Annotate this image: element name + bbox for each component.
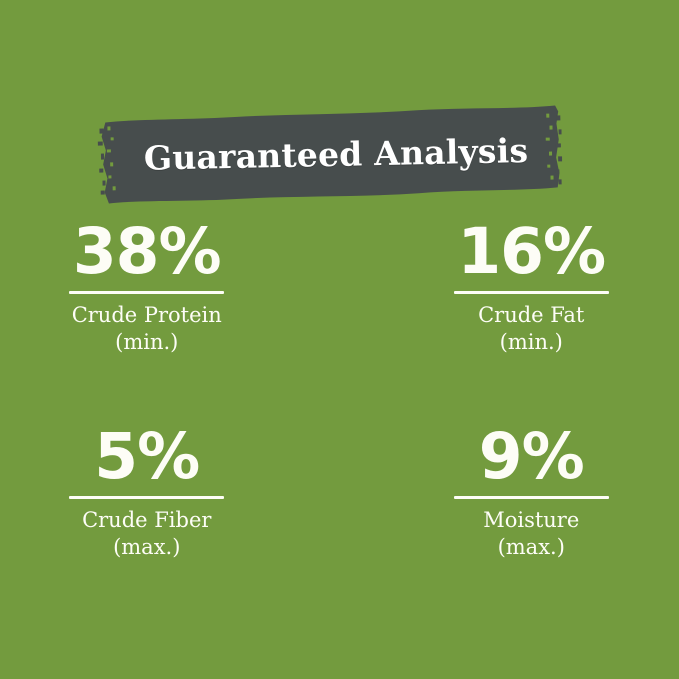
stat-qualifier: (max.) bbox=[113, 533, 180, 561]
stat-qualifier: (min.) bbox=[500, 328, 563, 356]
stat-divider-rule bbox=[454, 496, 609, 499]
stat-block-crude-fiber: 5% Crude Fiber (max.) bbox=[0, 423, 340, 561]
stat-divider-rule bbox=[69, 291, 224, 294]
stat-qualifier: (min.) bbox=[115, 328, 178, 356]
page-title: Guaranteed Analysis bbox=[97, 99, 563, 208]
stat-value: 38% bbox=[73, 218, 221, 286]
stat-block-moisture: 9% Moisture (max.) bbox=[340, 423, 679, 561]
header-banner: Guaranteed Analysis bbox=[97, 99, 563, 208]
stat-block-crude-fat: 16% Crude Fat (min.) bbox=[340, 218, 679, 423]
stat-divider-rule bbox=[69, 496, 224, 499]
stat-value: 9% bbox=[479, 423, 584, 491]
stat-value: 16% bbox=[457, 218, 605, 286]
stat-qualifier: (max.) bbox=[498, 533, 565, 561]
stat-block-crude-protein: 38% Crude Protein (min.) bbox=[0, 218, 340, 423]
stat-label: Crude Fiber bbox=[82, 507, 211, 533]
stats-grid: 38% Crude Protein (min.) 16% Crude Fat (… bbox=[0, 218, 679, 561]
guaranteed-analysis-panel: Guaranteed Analysis 38% Crude Protein (m… bbox=[0, 0, 679, 679]
stat-label: Moisture bbox=[483, 507, 579, 533]
stat-value: 5% bbox=[94, 423, 199, 491]
stat-label: Crude Protein bbox=[72, 302, 222, 328]
stat-label: Crude Fat bbox=[478, 302, 584, 328]
stat-divider-rule bbox=[454, 291, 609, 294]
